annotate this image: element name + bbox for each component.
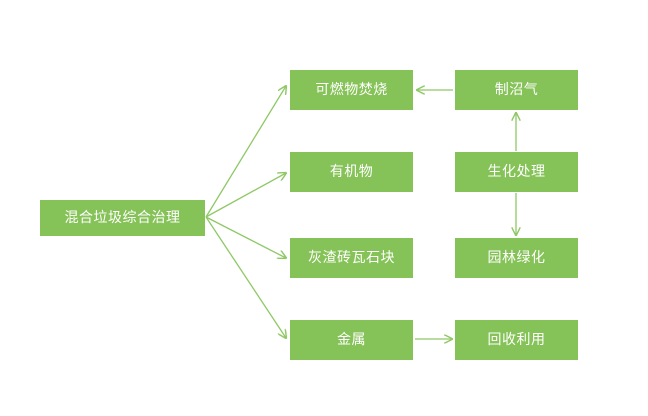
edge-source-to-rubble — [206, 217, 286, 258]
flowchart-canvas: 混合垃圾综合治理 可燃物焚烧 制沼气 有机物 生化处理 灰渣砖瓦石块 园林绿化 … — [0, 0, 648, 416]
node-biogas-label: 制沼气 — [495, 82, 539, 97]
node-source-label: 混合垃圾综合治理 — [65, 210, 181, 225]
edge-source-to-incinerate — [206, 86, 286, 217]
node-landscape-label: 园林绿化 — [488, 250, 546, 265]
node-incinerate[interactable]: 可燃物焚烧 — [290, 70, 413, 110]
node-landscape[interactable]: 园林绿化 — [455, 238, 578, 278]
node-metal-label: 金属 — [337, 332, 366, 347]
node-incinerate-label: 可燃物焚烧 — [315, 82, 388, 97]
edge-source-to-metal — [206, 217, 286, 338]
node-biochem[interactable]: 生化处理 — [455, 152, 578, 192]
edge-source-to-organic — [206, 173, 286, 217]
node-organic-label: 有机物 — [330, 164, 374, 179]
node-biochem-label: 生化处理 — [488, 164, 546, 179]
node-biogas[interactable]: 制沼气 — [455, 70, 578, 110]
node-metal[interactable]: 金属 — [290, 320, 413, 360]
node-rubble[interactable]: 灰渣砖瓦石块 — [290, 238, 413, 278]
node-rubble-label: 灰渣砖瓦石块 — [308, 250, 395, 265]
node-recycle[interactable]: 回收利用 — [455, 320, 578, 360]
node-recycle-label: 回收利用 — [488, 332, 546, 347]
node-source[interactable]: 混合垃圾综合治理 — [40, 200, 205, 236]
node-organic[interactable]: 有机物 — [290, 152, 413, 192]
